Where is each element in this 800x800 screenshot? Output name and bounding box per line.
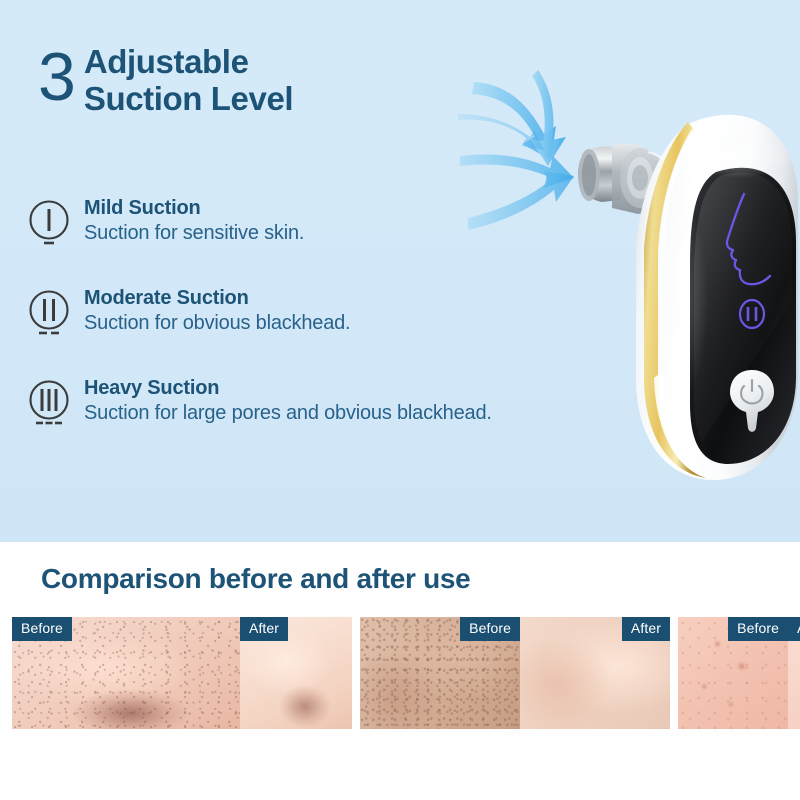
badge-before: Before bbox=[12, 617, 72, 641]
blackhead-suction-device bbox=[452, 60, 800, 510]
level-description: Suction for large pores and obvious blac… bbox=[84, 401, 492, 425]
level-title: Mild Suction bbox=[84, 197, 304, 221]
badge-before: Before bbox=[460, 617, 520, 641]
airflow-arrows bbox=[458, 70, 574, 230]
title-lines: Adjustable Suction Level bbox=[84, 44, 293, 118]
level-text: Mild Suction Suction for sensitive skin. bbox=[74, 195, 304, 245]
level-text: Moderate Suction Suction for obvious bla… bbox=[74, 285, 350, 335]
comparison-pair-cheek-pores: Before After bbox=[360, 617, 670, 729]
comparison-pair-acne-skin: Before After bbox=[678, 617, 800, 729]
level-text: Heavy Suction Suction for large pores an… bbox=[74, 375, 492, 425]
comparison-section: Comparison before and after use Before A… bbox=[0, 542, 800, 800]
comparison-pair-nose-blackheads: Before After bbox=[12, 617, 352, 729]
suction-level-hero-section: 3 Adjustable Suction Level Mild Suction bbox=[0, 0, 800, 542]
comparison-title: Comparison before and after use bbox=[41, 563, 470, 595]
before-after-photo-strip: Before After Before After bbox=[12, 617, 788, 729]
level-description: Suction for sensitive skin. bbox=[84, 221, 304, 245]
level-description: Suction for obvious blackhead. bbox=[84, 311, 350, 335]
photo-before-acne: Before bbox=[678, 617, 788, 729]
product-feature-page: 3 Adjustable Suction Level Mild Suction bbox=[0, 0, 800, 800]
level-count-numeral: 3 bbox=[38, 46, 74, 109]
page-title: 3 Adjustable Suction Level bbox=[38, 44, 293, 118]
suction-level-1-icon bbox=[26, 197, 74, 255]
level-title: Heavy Suction bbox=[84, 377, 492, 401]
suction-level-2-icon bbox=[26, 287, 74, 345]
title-line-1: Adjustable bbox=[84, 44, 293, 81]
badge-before: Before bbox=[728, 617, 788, 641]
badge-after: After bbox=[788, 617, 800, 641]
badge-after: After bbox=[240, 617, 288, 641]
photo-after-acne: After bbox=[788, 617, 800, 729]
title-line-2: Suction Level bbox=[84, 81, 293, 118]
suction-level-3-icon bbox=[26, 377, 74, 435]
photo-before-pores: Before bbox=[360, 617, 520, 729]
photo-before-nose: Before bbox=[12, 617, 240, 729]
level-title: Moderate Suction bbox=[84, 287, 350, 311]
photo-after-nose: After bbox=[240, 617, 352, 729]
photo-after-pores: After bbox=[520, 617, 670, 729]
badge-after: After bbox=[622, 617, 670, 641]
